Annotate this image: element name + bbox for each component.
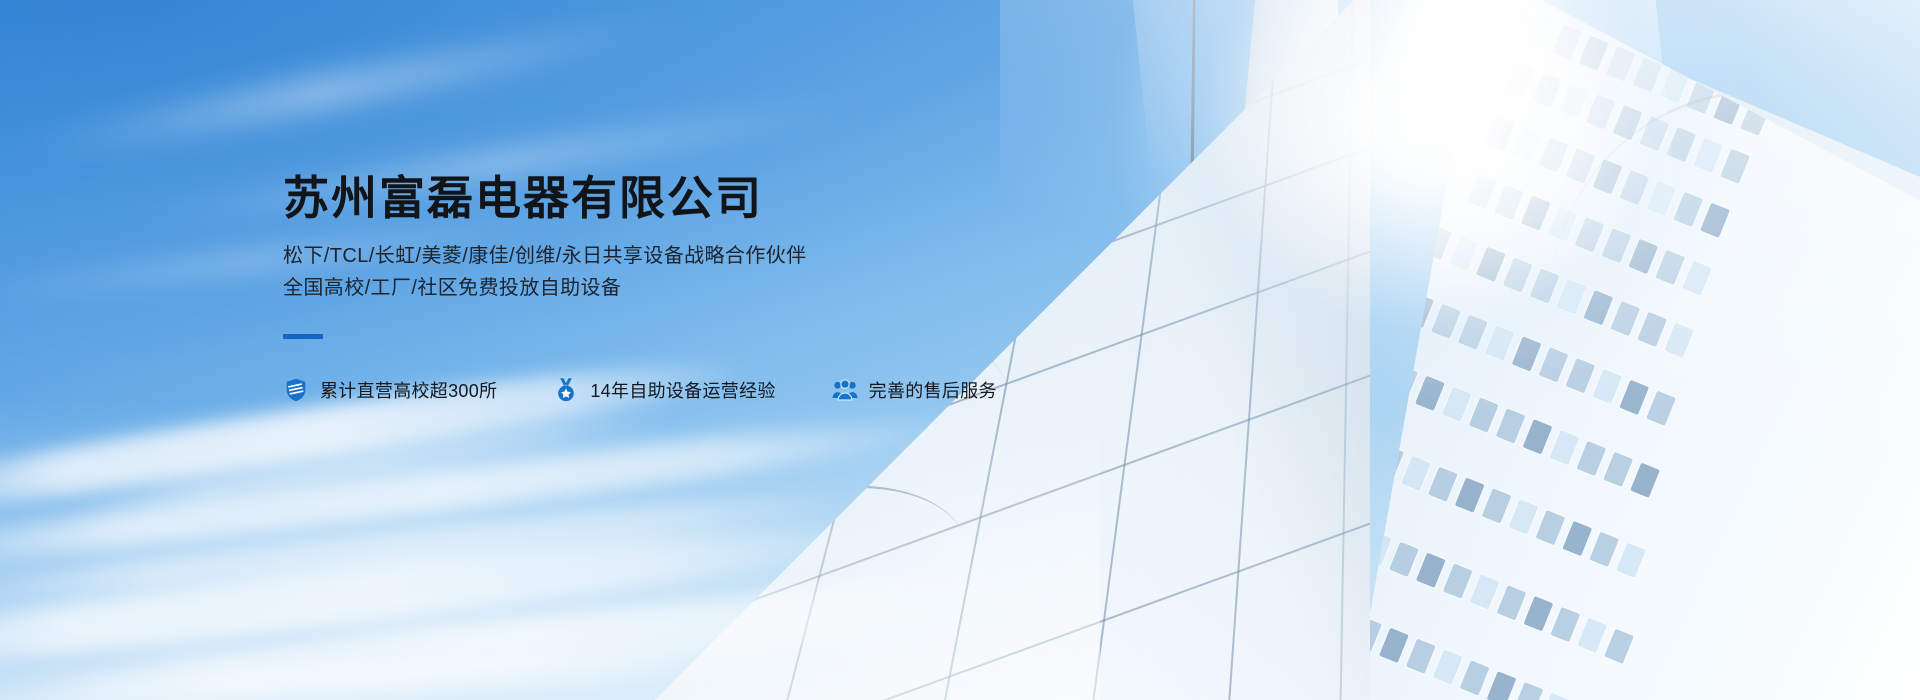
accent-divider [283,334,323,339]
shield-icon [283,377,309,403]
feature-label: 14年自助设备运营经验 [590,377,775,403]
page-title: 苏州富磊电器有限公司 [283,170,1103,228]
hero-banner: 苏州富磊电器有限公司 松下/TCL/长虹/美菱/康佳/创维/永日共享设备战略合作… [0,0,1920,700]
feature-label: 累计直营高校超300所 [320,377,497,403]
people-icon [832,377,858,403]
sun-core [1315,0,1615,180]
feature-item-campuses: 累计直营高校超300所 [283,377,497,403]
hero-copy-block: 苏州富磊电器有限公司 松下/TCL/长虹/美菱/康佳/创维/永日共享设备战略合作… [283,170,1103,403]
subtitle-line-2: 全国高校/工厂/社区免费投放自助设备 [283,272,1103,304]
feature-list: 累计直营高校超300所 14年自助设备运营经验 [283,377,1103,403]
subtitle-line-1: 松下/TCL/长虹/美菱/康佳/创维/永日共享设备战略合作伙伴 [283,240,1103,272]
medal-icon [553,377,579,403]
feature-item-service: 完善的售后服务 [832,377,997,403]
feature-label: 完善的售后服务 [869,377,997,403]
feature-item-experience: 14年自助设备运营经验 [553,377,775,403]
